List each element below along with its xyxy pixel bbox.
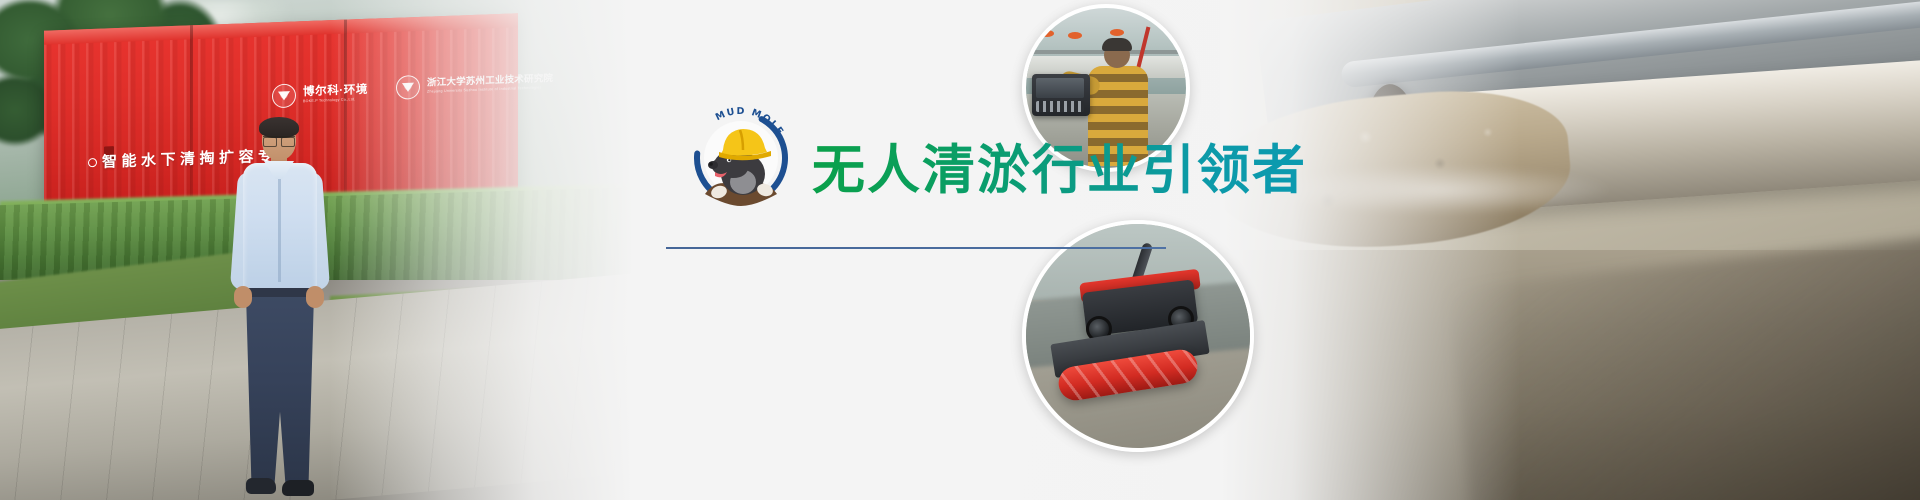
person-belt bbox=[246, 288, 314, 297]
headline-divider bbox=[666, 247, 1166, 249]
glasses-icon bbox=[263, 136, 295, 144]
brand-primary-en: BOKE.P Technology Co.,Ltd. bbox=[303, 98, 368, 104]
banner-headline: 无人清淤行业引领者 bbox=[812, 128, 1307, 204]
homepage-hero-banner: 博尔科·环境 BOKE.P Technology Co.,Ltd. 浙江大学苏州… bbox=[0, 0, 1920, 500]
person-right-hand bbox=[306, 286, 324, 308]
person-left-hand bbox=[234, 286, 252, 308]
shirt-placket bbox=[278, 172, 281, 282]
person-hair bbox=[259, 117, 299, 138]
slogan-bullet-icon bbox=[88, 158, 97, 167]
person-trousers bbox=[246, 294, 314, 484]
container-seam bbox=[344, 20, 347, 210]
left-hero-photo: 博尔科·环境 BOKE.P Technology Co.,Ltd. 浙江大学苏州… bbox=[0, 0, 660, 500]
university-emblem-icon bbox=[396, 75, 420, 100]
container-brand-primary: 博尔科·环境 BOKE.P Technology Co.,Ltd. bbox=[272, 81, 368, 109]
banner-center-content: MUD MOLE 无人清淤行业引领者 bbox=[660, 0, 1280, 500]
person-left-shoe bbox=[246, 478, 276, 494]
company-logo[interactable]: MUD MOLE bbox=[685, 102, 797, 214]
brand-primary-cn: 博尔科·环境 bbox=[303, 84, 368, 98]
person-figure bbox=[226, 120, 336, 500]
right-hero-photo bbox=[1220, 0, 1920, 500]
container-seam bbox=[190, 25, 193, 215]
boke-emblem-icon bbox=[272, 83, 296, 108]
person-right-shoe bbox=[282, 480, 314, 496]
